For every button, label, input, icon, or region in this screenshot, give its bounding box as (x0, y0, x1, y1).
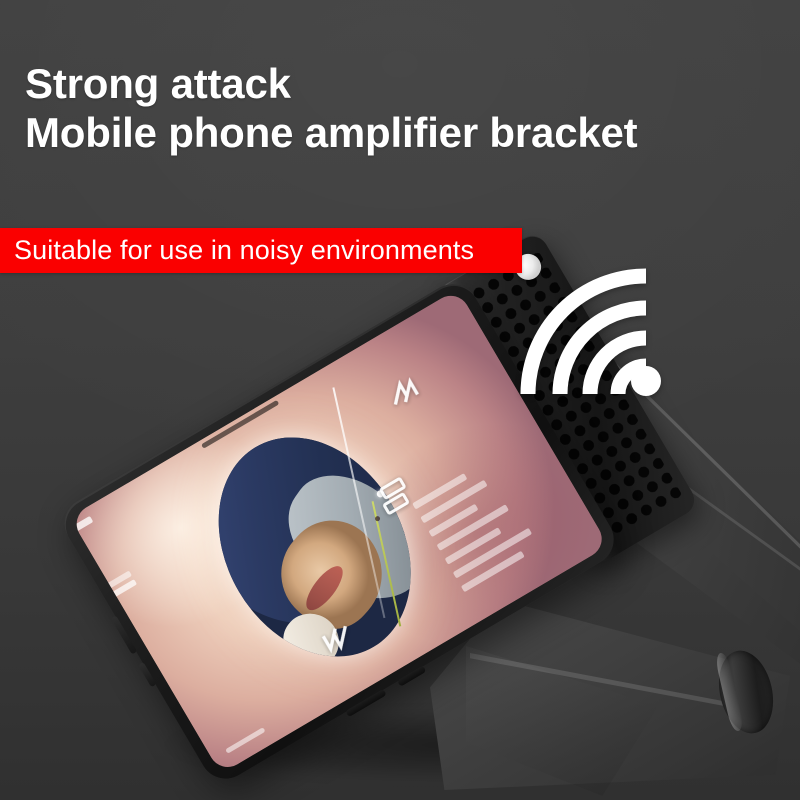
headline-line-1: Strong attack (25, 60, 637, 109)
ad-canvas: Strong attack Mobile phone amplifier bra… (0, 0, 800, 800)
speaker-port (397, 665, 426, 686)
page-title: Strong attack Mobile phone amplifier bra… (25, 60, 637, 157)
power-button[interactable] (138, 662, 156, 687)
banner-text: Suitable for use in noisy environments (14, 235, 474, 266)
status-badge: Suitable for use in noisy environments (0, 228, 522, 273)
wifi-sound-wave-icon (520, 268, 690, 396)
headline-line-2: Mobile phone amplifier bracket (25, 109, 637, 158)
